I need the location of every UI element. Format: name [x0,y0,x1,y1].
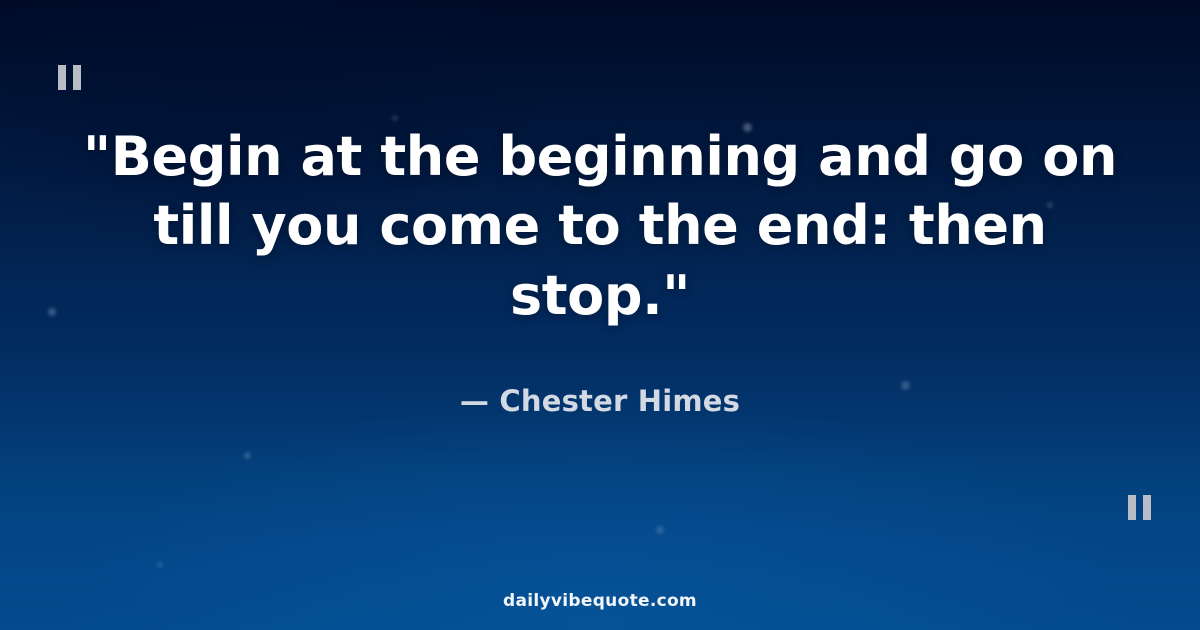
quote-card: "Begin at the beginning and go on till y… [0,0,1200,630]
footer: dailyvibequote.com [0,591,1200,611]
site-name: dailyvibequote.com [503,591,697,611]
quote-author: — Chester Himes [460,330,740,418]
star-particle [157,562,163,568]
quote-text: "Begin at the beginning and go on till y… [70,122,1130,329]
quote-content: "Begin at the beginning and go on till y… [0,0,1200,540]
